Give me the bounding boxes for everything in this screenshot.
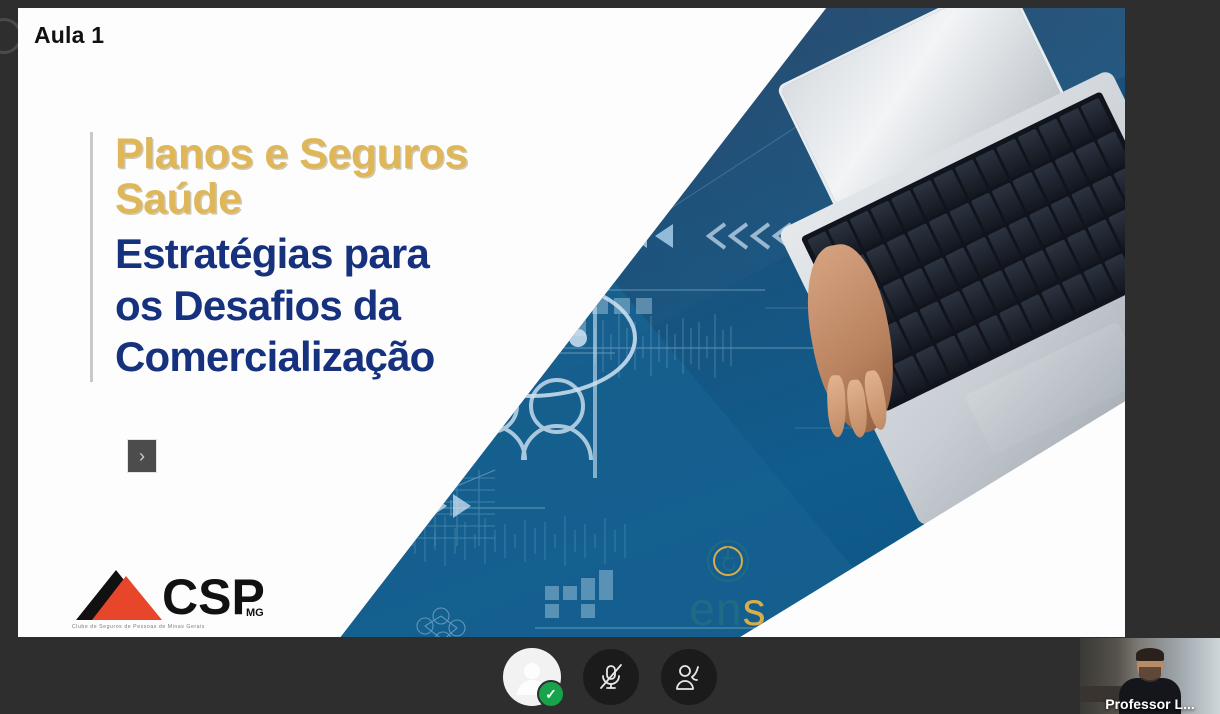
slide-title-block: Planos e Seguros Saúde Estratégias para … — [90, 132, 585, 382]
meeting-controls-bar: ✓ — [0, 640, 1220, 714]
participant-name-label: Professor L... — [1080, 696, 1220, 712]
ens-logo: ens — [673, 538, 783, 634]
participant-beard — [1139, 667, 1161, 682]
ens-letter-e: e — [689, 583, 716, 635]
slide-subtitle-line-3: Comercialização — [115, 331, 585, 382]
ens-wordmark: ens — [673, 586, 783, 632]
slide-subtitle-line-1: Estratégias para — [115, 228, 585, 279]
raise-hand-icon — [673, 661, 705, 693]
ens-letter-n: n — [716, 583, 743, 635]
camera-avatar-button[interactable]: ✓ — [503, 648, 561, 706]
microphone-muted-icon — [596, 662, 626, 692]
csp-logo-svg: CSP MG — [70, 566, 270, 622]
csp-logo: CSP MG Clube de Seguros de Pessoas de Mi… — [70, 566, 270, 637]
slide-title-secondary: Estratégias para os Desafios da Comercia… — [115, 228, 585, 382]
microphone-button[interactable] — [583, 649, 639, 705]
participant-thumbnail[interactable]: Professor L... — [1080, 638, 1220, 714]
lesson-label: Aula 1 — [34, 22, 104, 49]
slide-title-primary: Planos e Seguros Saúde — [115, 132, 585, 222]
meeting-window: Aula 1 Planos e Seguros Saúde Estratégia… — [0, 0, 1220, 714]
csp-caption: Clube de Seguros de Pessoas de Minas Ger… — [72, 624, 262, 630]
participant-hair — [1136, 648, 1164, 661]
slide-next-marker[interactable]: › — [128, 440, 156, 472]
camera-status-badge: ✓ — [537, 680, 565, 708]
ens-emblem-icon — [705, 538, 751, 584]
slide-subtitle-line-2: os Desafios da — [115, 280, 585, 331]
ens-letter-s: s — [743, 583, 767, 635]
raise-hand-button[interactable] — [661, 649, 717, 705]
shared-slide[interactable]: Aula 1 Planos e Seguros Saúde Estratégia… — [18, 8, 1125, 637]
csp-superscript: MG — [246, 607, 264, 619]
